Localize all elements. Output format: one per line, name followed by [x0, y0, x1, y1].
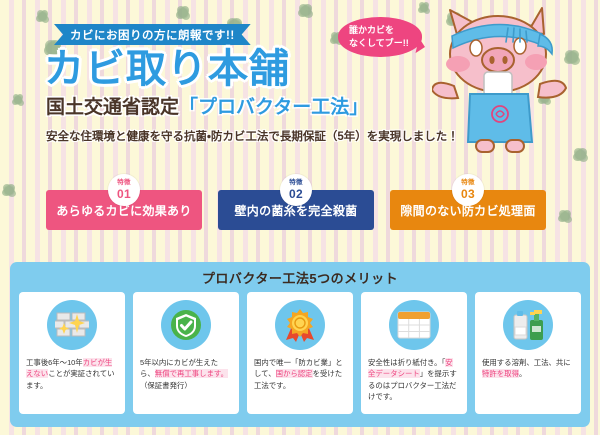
merit-card[interactable]: 安全性は折り紙付き。「安全データシート」を提示するのはプロバクター工法だけです。 [361, 292, 467, 414]
feature-badge-01[interactable]: 特徴 01 あらゆるカビに効果あり [46, 190, 202, 230]
sub-title: 国土交通省認定「プロバクター工法」 [46, 98, 368, 117]
merit-card[interactable]: 国内で唯一「防カビ業」として、国から認定を受けた工法です。 [247, 292, 353, 414]
merit-card-text: 安全性は折り紙付き。「安全データシート」を提示するのはプロバクター工法だけです。 [368, 357, 460, 403]
merit-card-text: 使用する溶剤、工法、共に特許を取得。 [482, 357, 574, 380]
sub-title-certification: 国土交通省認定 [46, 97, 179, 118]
mold-spore-icon [420, 4, 428, 12]
merit-text-post: （保証書発行） [140, 381, 192, 390]
merit-text-pre: 工事後6年〜10年 [26, 358, 83, 367]
sub-title-method: 「プロバクター工法」 [179, 97, 368, 118]
feature-number-circle: 特徴 03 [452, 174, 484, 206]
merit-card-list: 工事後6年〜10年カビが生えないことが実証されています。 5年以内にカビが生えた… [10, 292, 590, 414]
merit-card[interactable]: 使用する溶剤、工法、共に特許を取得。 [475, 292, 581, 414]
feature-badge-label: 特徴 [289, 180, 303, 187]
mold-spore-icon [178, 8, 188, 18]
feature-badge-number: 01 [117, 188, 131, 200]
merit-card-text: 国内で唯一「防カビ業」として、国から認定を受けた工法です。 [254, 357, 346, 391]
data-sheet-icon [389, 300, 439, 350]
merit-card-text: 5年以内にカビが生えたら、無償で再工事します。（保証書発行） [140, 357, 232, 391]
merit-text-pre: 使用する溶剤、工法、共に [482, 358, 571, 367]
mold-spore-icon [300, 6, 311, 16]
mold-spore-icon [14, 96, 22, 104]
merits-panel-title: プロバクター工法5つのメリット [10, 262, 590, 292]
page-title: カビ取り本舗 [44, 49, 290, 89]
spray-bottle-icon [503, 300, 553, 350]
feature-badge-02[interactable]: 特徴 02 壁内の菌糸を完全殺菌 [218, 190, 374, 230]
announcement-ribbon: カビにお困りの方に朗報です!! [54, 24, 251, 45]
merit-card[interactable]: 5年以内にカビが生えたら、無償で再工事します。（保証書発行） [133, 292, 239, 414]
feature-badge-label: 特徴 [461, 180, 475, 187]
merit-text-pre: 安全性は折り紙付き。「 [368, 358, 445, 367]
mold-spore-icon [38, 12, 47, 21]
feature-badge-03[interactable]: 特徴 03 隙間のない防カビ処理面 [390, 190, 546, 230]
merit-card-text: 工事後6年〜10年カビが生えないことが実証されています。 [26, 357, 118, 391]
feature-number-circle: 特徴 02 [280, 174, 312, 206]
merits-panel: プロバクター工法5つのメリット 工事後6年〜10年カビが生えな [10, 262, 590, 427]
feature-badges: 特徴 01 あらゆるカビに効果あり 特徴 02 壁内の菌糸を完全殺菌 特徴 03… [46, 176, 546, 230]
feature-badge-label: 特徴 [117, 180, 131, 187]
mascot-speech-bubble: 誰かカビを なくしてブー!! [338, 17, 422, 57]
feature-badge-number: 02 [289, 188, 303, 200]
feature-badge-number: 03 [461, 188, 475, 200]
landing-page: カビにお困りの方に朗報です!! カビ取り本舗 国土交通省認定「プロバクター工法」… [0, 0, 600, 435]
bubble-line-2: なくしてブー!! [349, 37, 411, 50]
merit-text-highlight: 無償で再工事します。 [155, 369, 228, 378]
merit-text-post: 。 [519, 369, 526, 378]
merit-card[interactable]: 工事後6年〜10年カビが生えないことが実証されています。 [19, 292, 125, 414]
bubble-line-1: 誰かカビを [349, 24, 411, 37]
mold-spore-icon [575, 150, 586, 160]
brick-wall-sparkle-icon [47, 300, 97, 350]
mold-spore-icon [560, 212, 570, 221]
pig-mascot-illustration [432, 2, 574, 154]
shield-check-icon [161, 300, 211, 350]
award-medal-icon [275, 300, 325, 350]
mold-spore-icon [4, 186, 14, 195]
feature-number-circle: 特徴 01 [108, 174, 140, 206]
merit-text-highlight: 国から認定 [276, 369, 313, 378]
ribbon-label: カビにお困りの方に朗報です!! [70, 27, 235, 43]
merit-text-highlight: 特許を取得 [482, 369, 519, 378]
lead-text: 安全な住環境と健康を守る抗菌・防カビ工法で長期保証（5年）を実現しました！ [46, 128, 459, 144]
